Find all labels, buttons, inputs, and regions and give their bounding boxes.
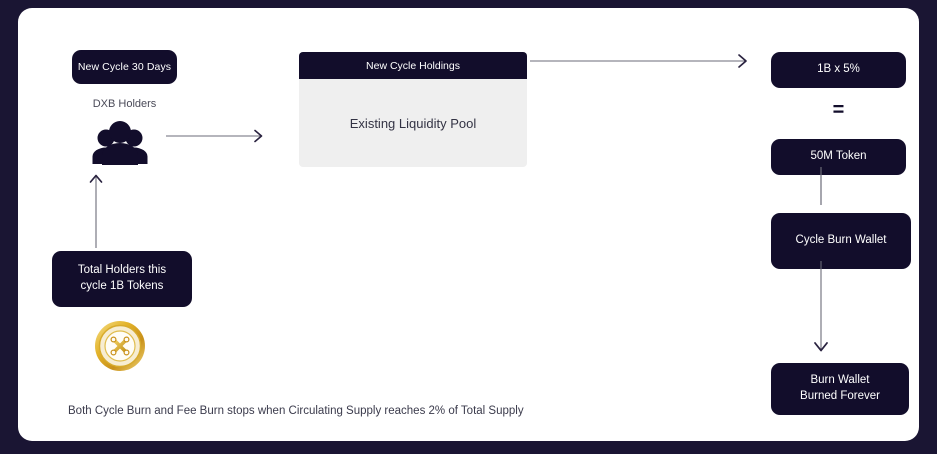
total-holders-to-people-arrow bbox=[91, 176, 102, 249]
holders-to-pool-arrow bbox=[166, 131, 262, 142]
cycle-burn-to-burn-forever-arrow bbox=[815, 261, 827, 351]
diagram-card: New Cycle 30 Days DXB Holders Total Hold… bbox=[18, 8, 919, 441]
connector-layer bbox=[18, 8, 919, 441]
pool-to-calc-arrow bbox=[530, 55, 746, 67]
footer-caption: Both Cycle Burn and Fee Burn stops when … bbox=[68, 405, 524, 417]
diagram-stage: New Cycle 30 Days DXB Holders Total Hold… bbox=[0, 0, 937, 454]
